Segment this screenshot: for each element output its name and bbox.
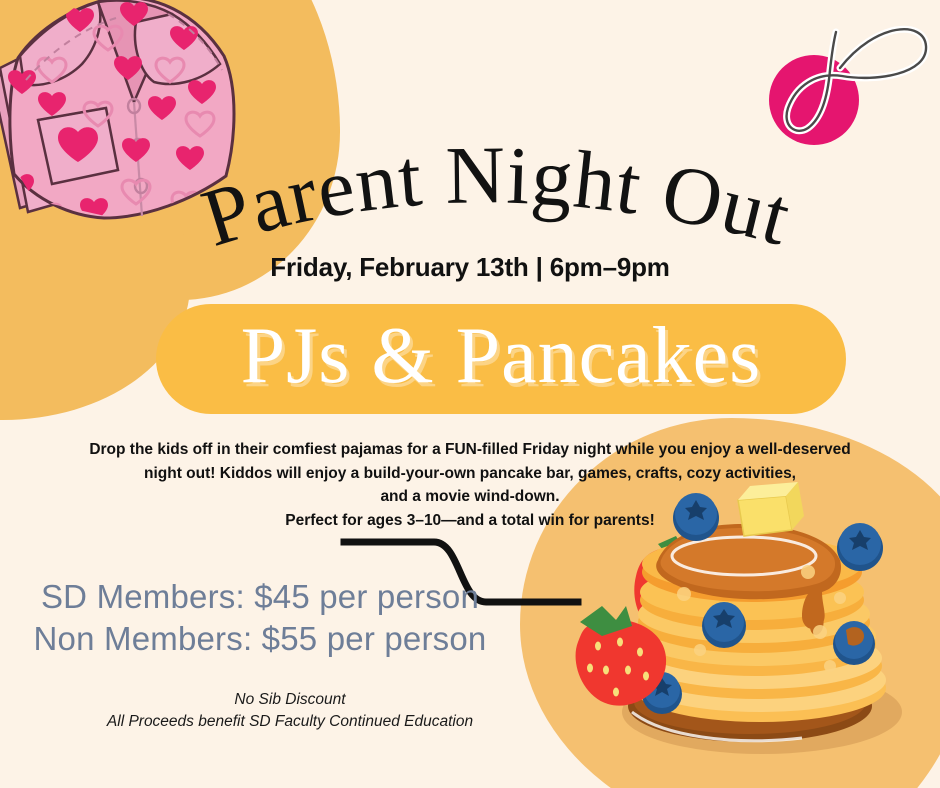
footer-note-proceeds: All Proceeds benefit SD Faculty Continue… [40,711,540,733]
event-description: Drop the kids off in their comfiest paja… [60,438,880,532]
pricing-block: SD Members: $45 per person Non Members: … [0,576,520,660]
event-date-line: Friday, February 13th | 6pm–9pm [0,252,940,283]
event-name-text: PJs & Pancakes [241,316,762,402]
script-d-monogram-logo [756,8,932,148]
event-name-banner: PJs & Pancakes [156,304,846,414]
description-line-3: and a movie wind-down. [60,485,880,509]
price-members: SD Members: $45 per person [0,576,520,618]
price-non-members: Non Members: $55 per person [0,618,520,660]
footer-notes: No Sib Discount All Proceeds benefit SD … [40,689,540,733]
folded-pajamas-icon [0,0,254,236]
description-line-2: night out! Kiddos will enjoy a build-you… [60,462,880,486]
footer-note-no-sib-discount: No Sib Discount [40,689,540,711]
poster-canvas: Parent Night Out Friday, February 13th |… [0,0,940,788]
description-line-1: Drop the kids off in their comfiest paja… [60,438,880,462]
